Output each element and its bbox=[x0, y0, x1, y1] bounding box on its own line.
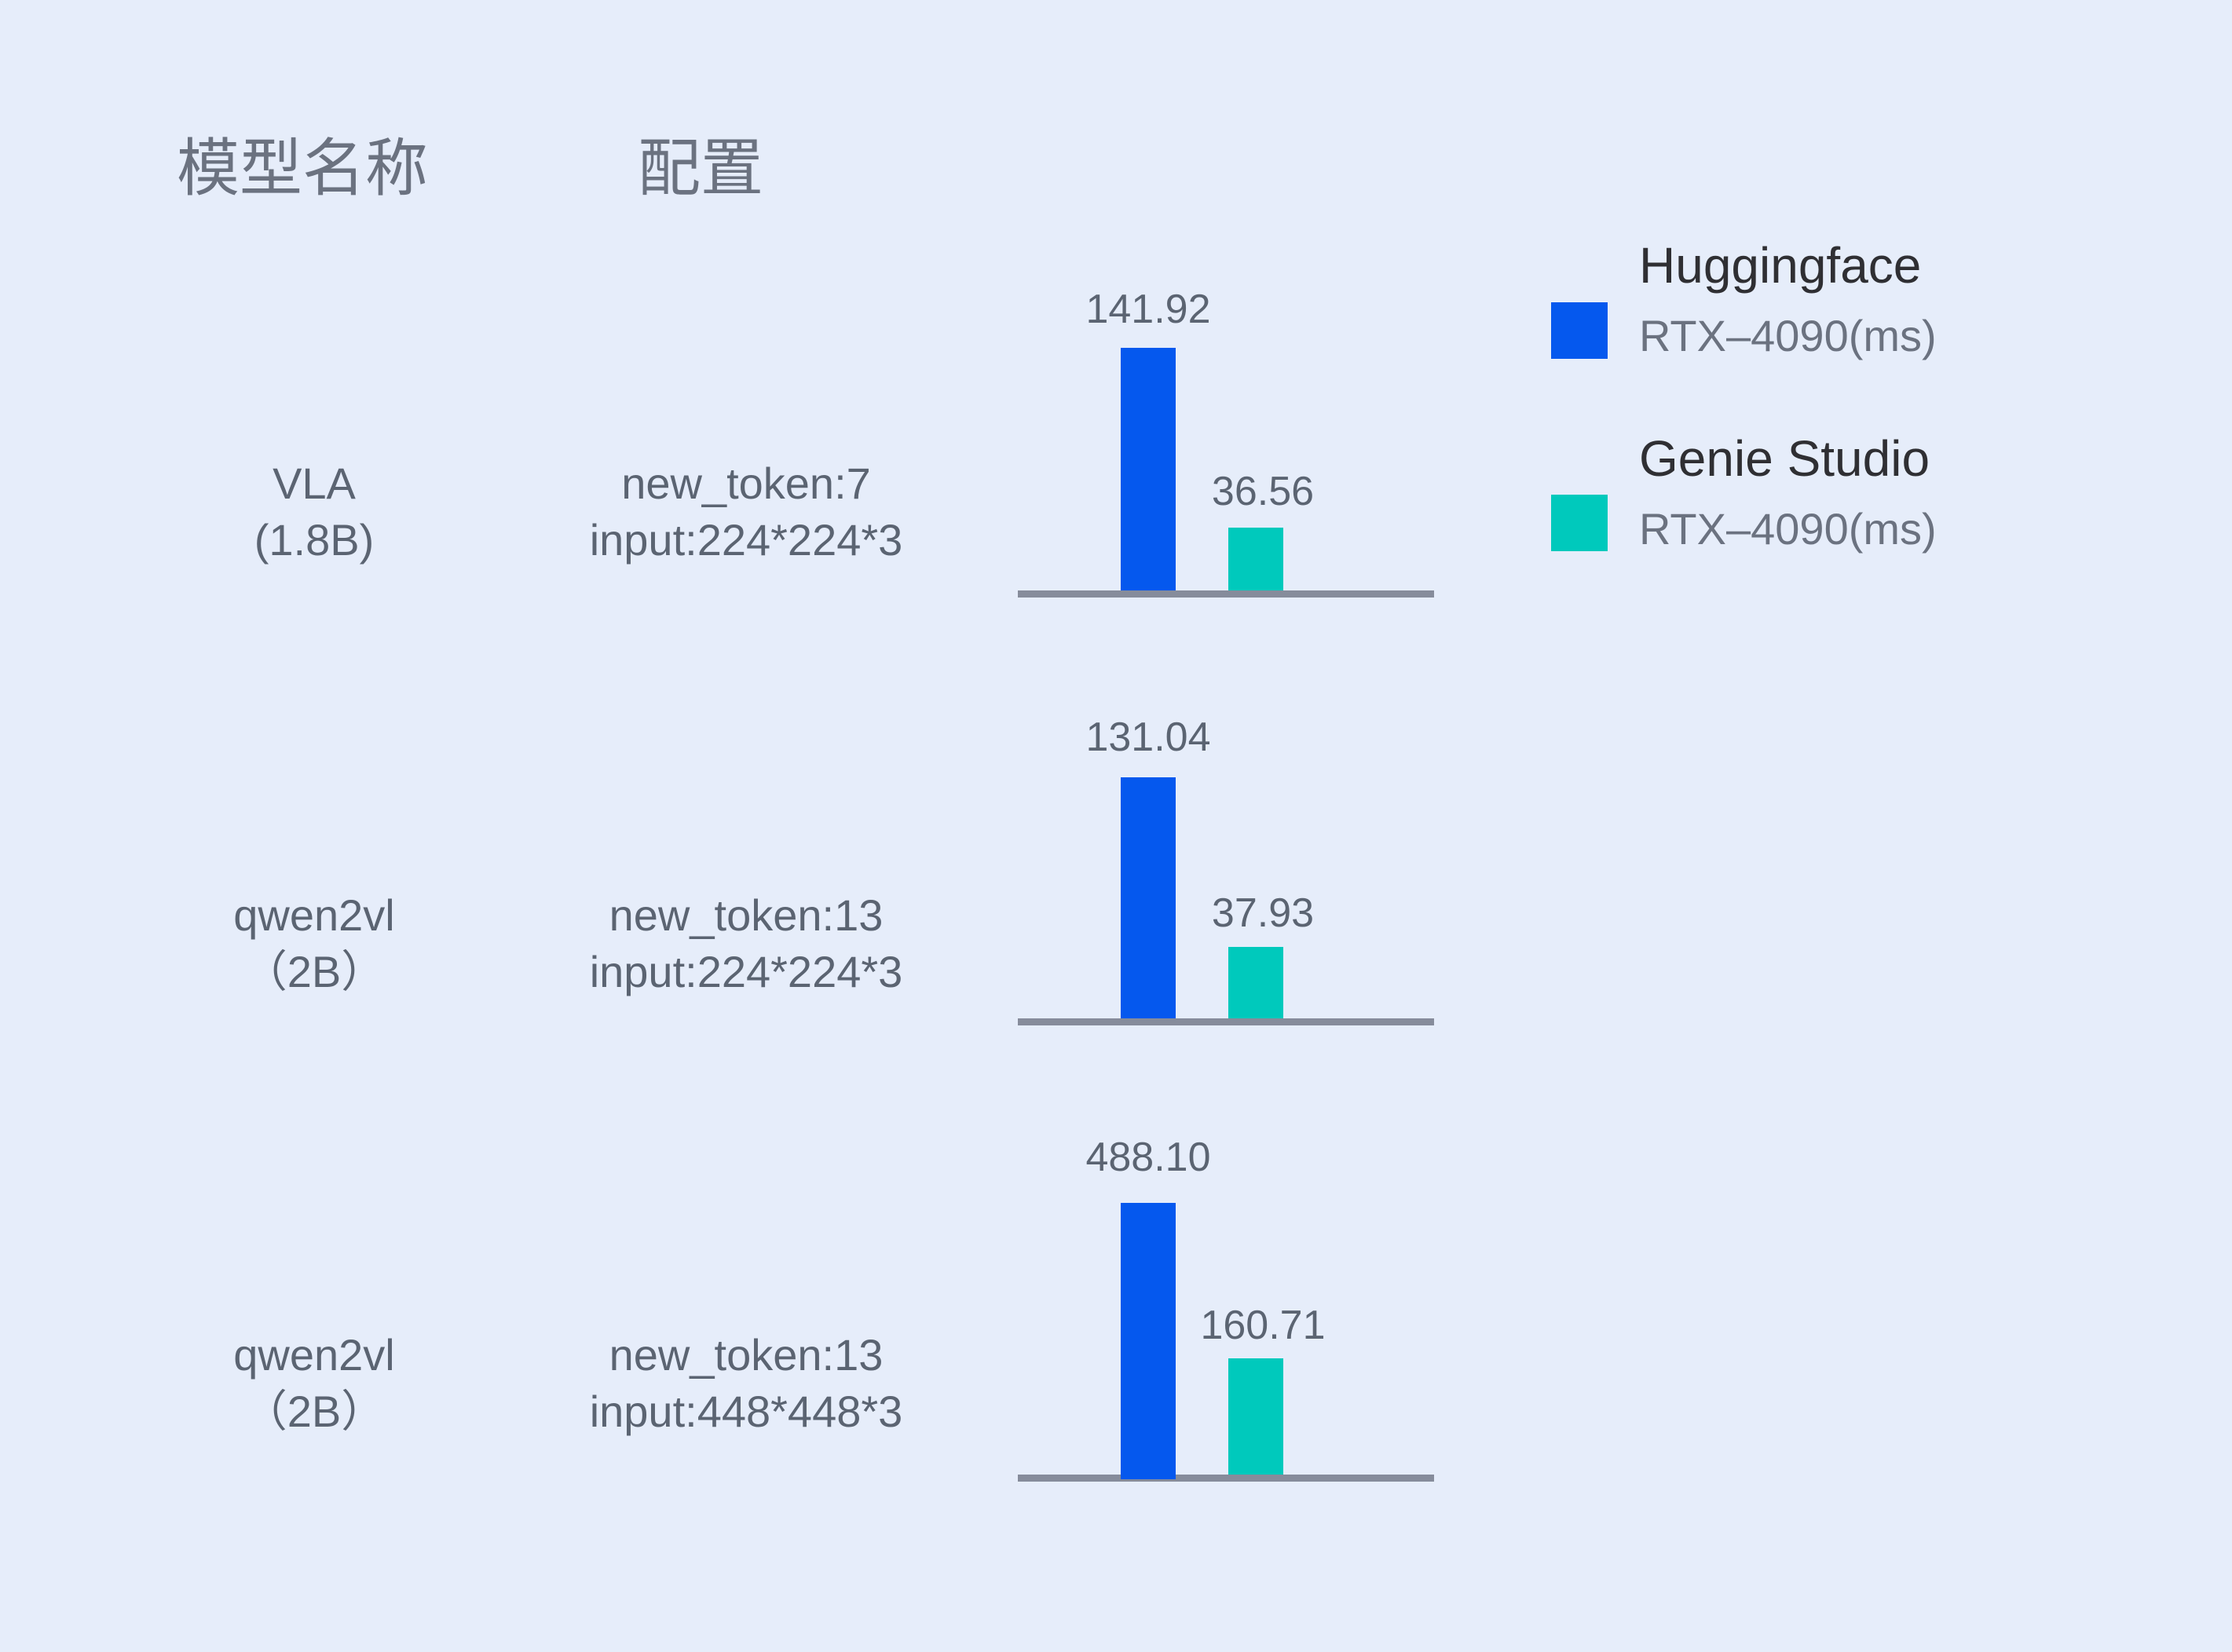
row-config-line2: input:448*448*3 bbox=[503, 1383, 990, 1440]
row-plot-area: 131.04 37.93 bbox=[1018, 679, 1434, 1048]
bar-value-label-huggingface: 141.92 bbox=[1057, 289, 1239, 330]
table-row: qwen2vl （2B） new_token:13 input:448*448*… bbox=[0, 1099, 2232, 1492]
legend-item-huggingface[interactable]: Huggingface RTX–4090(ms) bbox=[1535, 236, 2164, 393]
bar-huggingface[interactable] bbox=[1121, 1203, 1176, 1479]
row-config-line1: new_token:13 bbox=[503, 887, 990, 944]
legend-item-genie-studio[interactable]: Genie Studio RTX–4090(ms) bbox=[1535, 430, 2164, 587]
legend-item-text: Huggingface RTX–4090(ms) bbox=[1639, 240, 2157, 358]
axis-baseline bbox=[1018, 1475, 1434, 1482]
axis-baseline bbox=[1018, 1018, 1434, 1025]
table-row: qwen2vl （2B） new_token:13 input:224*224*… bbox=[0, 679, 2232, 1048]
bar-genie-studio[interactable] bbox=[1228, 1358, 1283, 1475]
row-plot-area: 488.10 160.71 bbox=[1018, 1099, 1434, 1492]
row-config-line1: new_token:13 bbox=[503, 1327, 990, 1383]
bar-value-label-genie-studio: 160.71 bbox=[1172, 1305, 1354, 1346]
legend-item-title: Genie Studio bbox=[1639, 433, 2157, 484]
bar-value-label-genie-studio: 36.56 bbox=[1172, 471, 1354, 512]
legend-item-subtitle: RTX–4090(ms) bbox=[1639, 507, 2157, 551]
legend-item-title: Huggingface bbox=[1639, 240, 2157, 291]
row-model-name: qwen2vl （2B） bbox=[141, 887, 487, 1000]
legend-item-text: Genie Studio RTX–4090(ms) bbox=[1639, 433, 2157, 551]
bar-huggingface[interactable] bbox=[1121, 777, 1176, 1018]
bar-value-label-huggingface: 488.10 bbox=[1057, 1137, 1239, 1178]
row-model-name-line1: qwen2vl bbox=[141, 1327, 487, 1383]
row-plot-area: 141.92 36.56 bbox=[1018, 251, 1434, 620]
row-model-name-line2: (1.8B) bbox=[141, 512, 487, 568]
row-config-line1: new_token:7 bbox=[503, 455, 990, 512]
row-model-name: qwen2vl （2B） bbox=[141, 1327, 487, 1439]
bar-genie-studio[interactable] bbox=[1228, 947, 1283, 1018]
row-config-line2: input:224*224*3 bbox=[503, 944, 990, 1000]
column-header-model-name: 模型名称 bbox=[177, 137, 428, 200]
bar-value-label-genie-studio: 37.93 bbox=[1172, 893, 1354, 934]
legend-item-subtitle: RTX–4090(ms) bbox=[1639, 314, 2157, 358]
row-config: new_token:13 input:448*448*3 bbox=[503, 1327, 990, 1439]
row-config: new_token:7 input:224*224*3 bbox=[503, 455, 990, 568]
bar-value-label-huggingface: 131.04 bbox=[1057, 717, 1239, 758]
row-config-line2: input:224*224*3 bbox=[503, 512, 990, 568]
row-model-name-line2: （2B） bbox=[141, 944, 487, 1000]
row-model-name: VLA (1.8B) bbox=[141, 455, 487, 568]
column-header-config: 配置 bbox=[638, 137, 763, 200]
row-model-name-line1: VLA bbox=[141, 455, 487, 512]
row-config: new_token:13 input:224*224*3 bbox=[503, 887, 990, 1000]
row-model-name-line2: （2B） bbox=[141, 1383, 487, 1440]
blue-swatch-icon bbox=[1551, 302, 1608, 359]
chart-canvas: 模型名称 配置 VLA (1.8B) new_token:7 input:224… bbox=[0, 0, 2232, 1652]
row-model-name-line1: qwen2vl bbox=[141, 887, 487, 944]
bar-genie-studio[interactable] bbox=[1228, 528, 1283, 590]
teal-swatch-icon bbox=[1551, 495, 1608, 551]
axis-baseline bbox=[1018, 590, 1434, 598]
bar-huggingface[interactable] bbox=[1121, 348, 1176, 590]
